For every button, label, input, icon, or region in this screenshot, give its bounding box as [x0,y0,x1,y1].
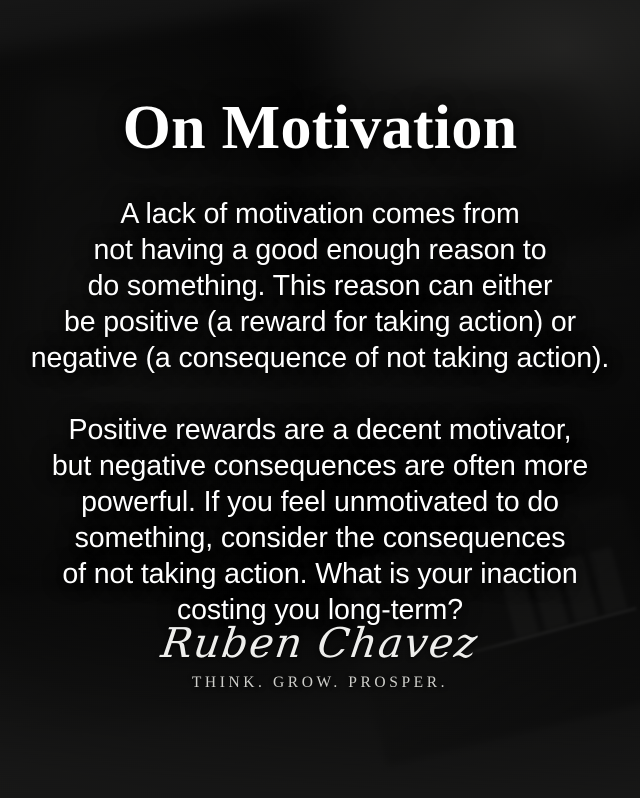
motivation-quote-poster: On Motivation A lack of motivation comes… [0,0,640,798]
poster-content: On Motivation A lack of motivation comes… [0,0,640,798]
author-signature: Ruben Chavez [0,618,640,668]
quote-paragraph-1: A lack of motivation comes from not havi… [14,196,626,376]
page-title: On Motivation [0,97,640,159]
quote-body: A lack of motivation comes from not havi… [0,196,640,628]
quote-paragraph-2: Positive rewards are a decent motivator,… [14,412,626,628]
attribution: Ruben Chavez THINK. GROW. PROSPER. [0,618,640,692]
brand-tagline: THINK. GROW. PROSPER. [0,674,640,692]
